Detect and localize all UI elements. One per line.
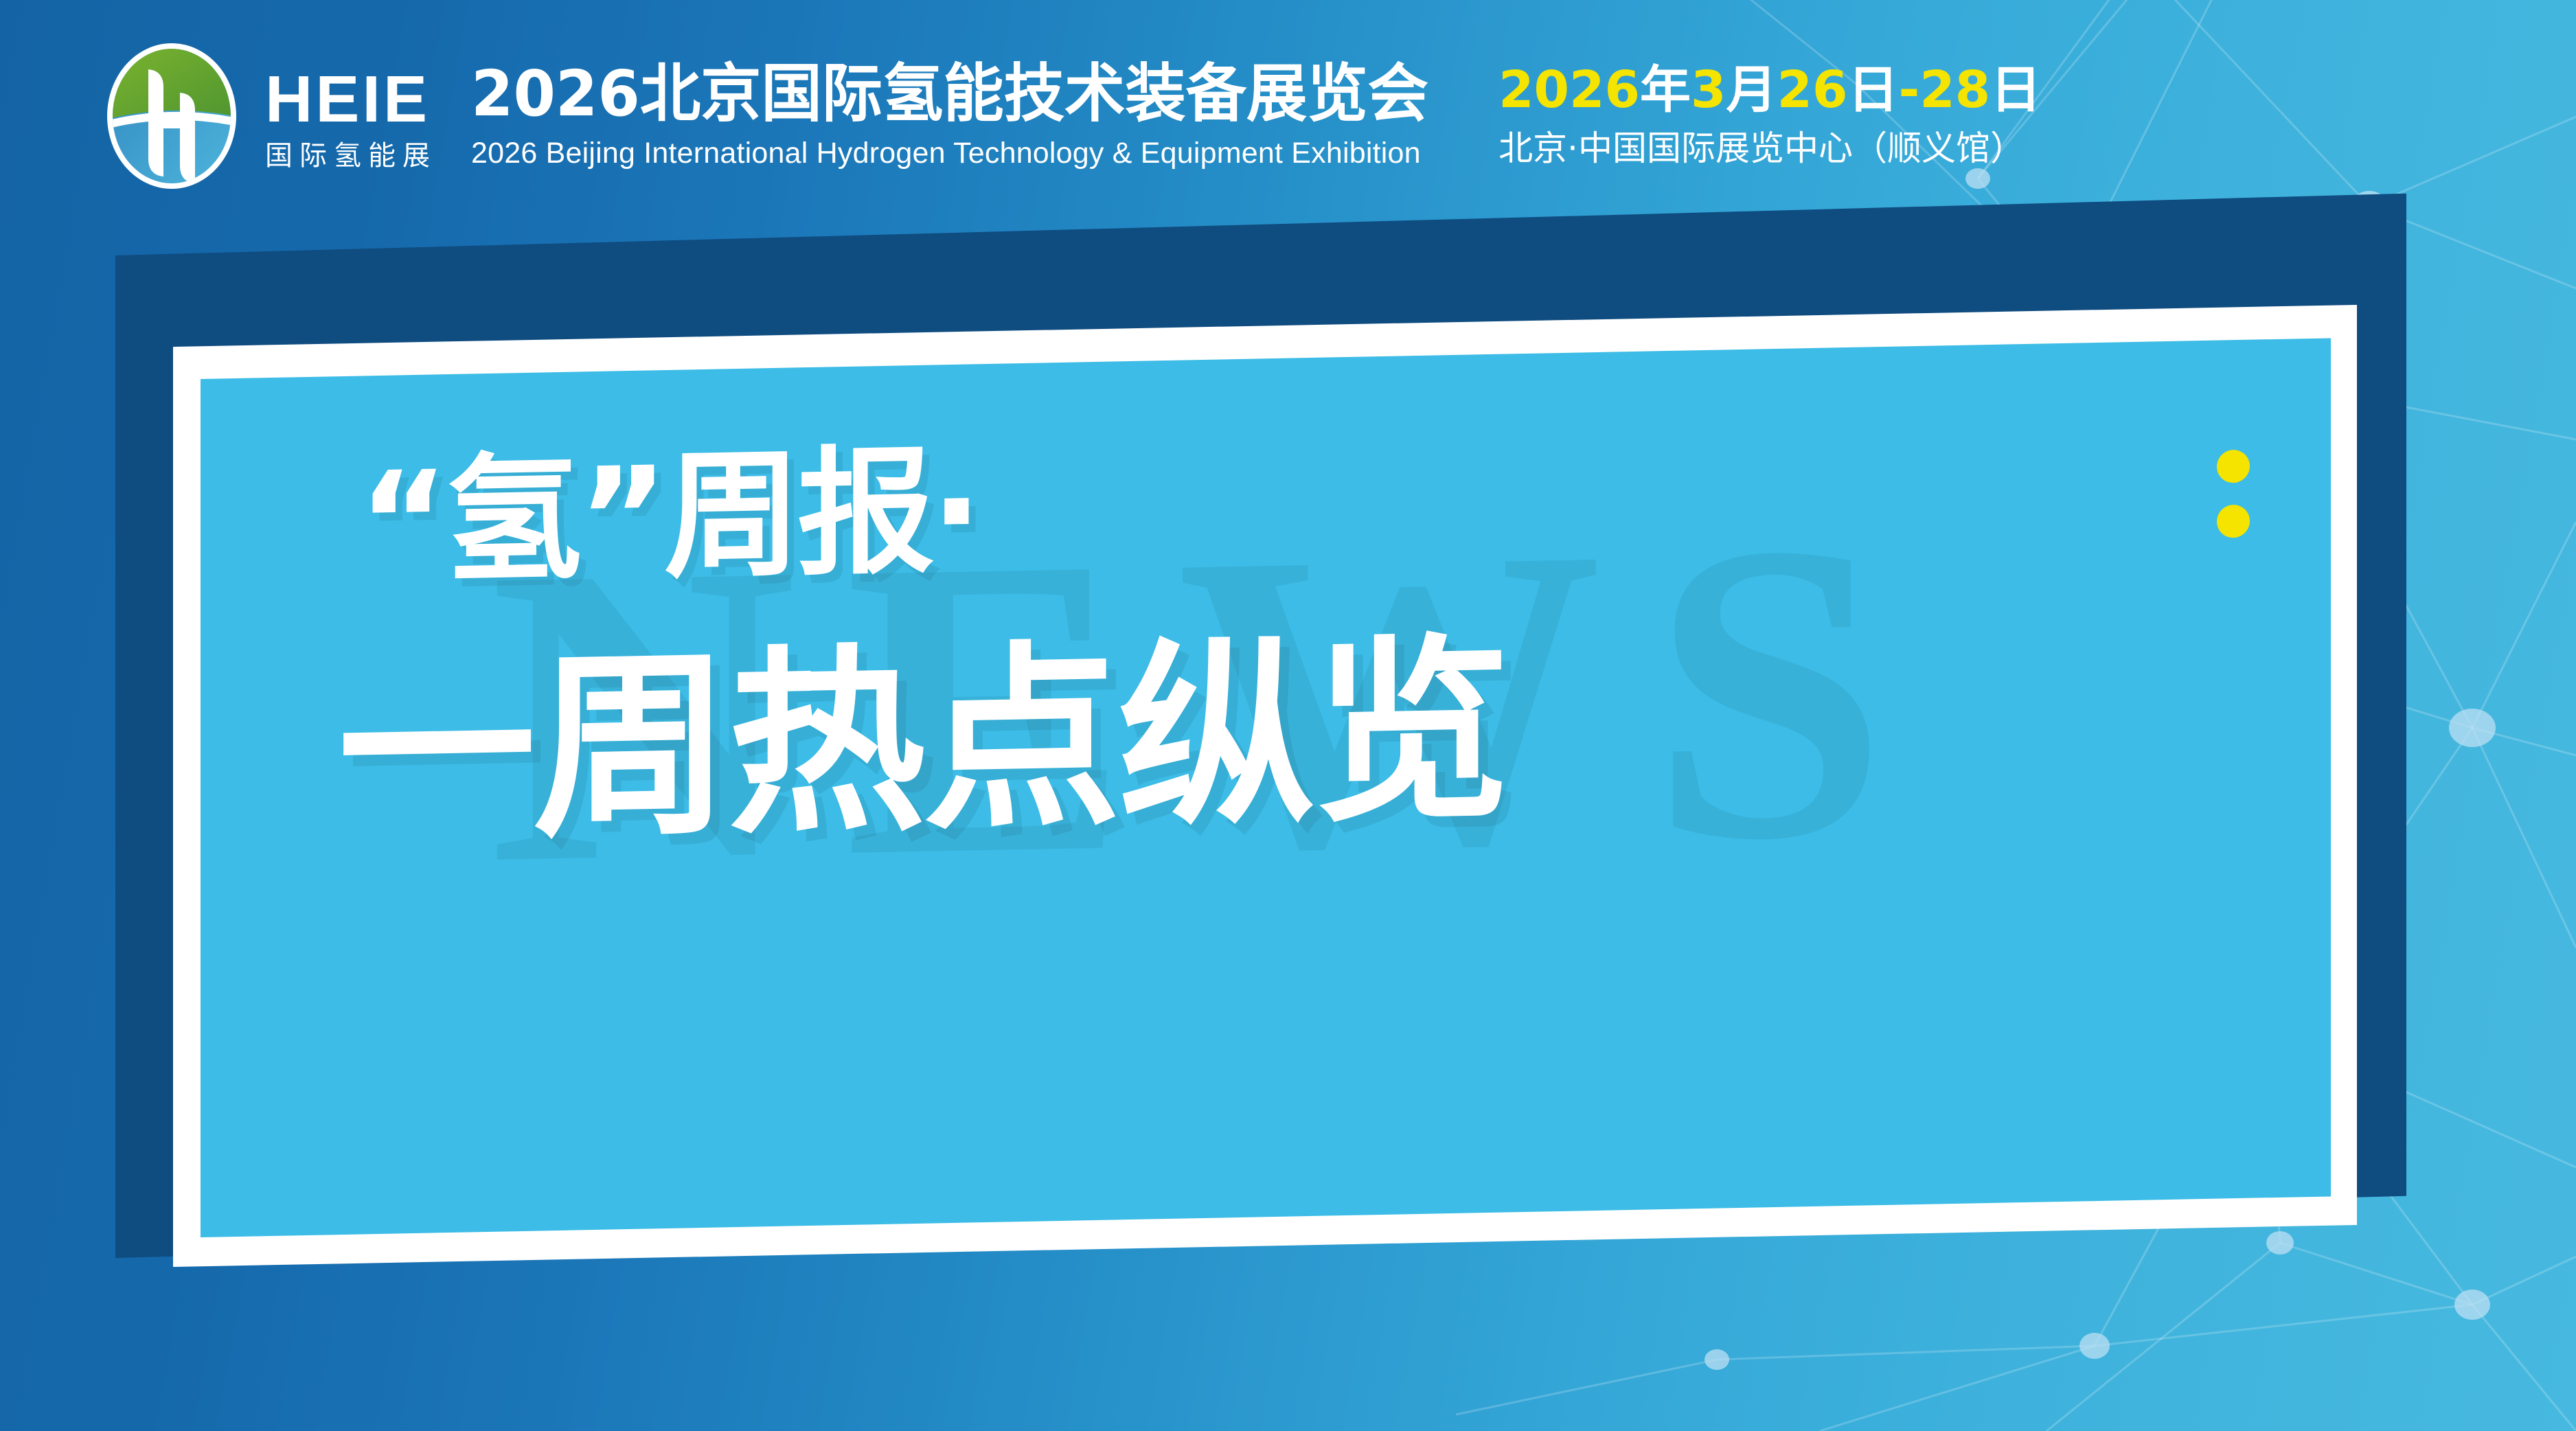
logo-subtitle-cn: 国际氢能展 <box>265 142 437 170</box>
date-year-suffix: 年 <box>1640 60 1691 119</box>
event-header: HEIE 国际氢能展 2026北京国际氢能技术装备展览会 2026 Beijin… <box>0 0 2576 227</box>
date-year: 2026 <box>1498 60 1640 119</box>
date-day-end: 28 <box>1919 60 1990 119</box>
poster-canvas: HEIE 国际氢能展 2026北京国际氢能技术装备展览会 2026 Beijin… <box>0 0 2576 1431</box>
date-month: 3 <box>1691 60 1726 119</box>
decor-dot-icon-2 <box>2217 505 2250 538</box>
decor-dot-icon-1 <box>2217 450 2250 483</box>
event-date: 2026年3月26日-28日 <box>1498 63 2041 117</box>
news-card-subtitle: “氢”周报· <box>358 443 979 592</box>
date-day-start: 26 <box>1777 60 1848 119</box>
event-title-block: 2026北京国际氢能技术装备展览会 2026 Beijing Internati… <box>471 60 1468 171</box>
news-card-headline: 一周热点纵览 <box>338 632 1508 852</box>
event-date-block: 2026年3月26日-28日 北京·中国国际展览中心（顺义馆） <box>1498 63 2041 169</box>
event-title-cn: 2026北京国际氢能技术装备展览会 <box>471 60 1428 128</box>
logo-wordmark: HEIE 国际氢能展 <box>265 67 437 170</box>
event-venue: 北京·中国国际展览中心（顺义馆） <box>1498 128 2041 169</box>
heie-logo-icon <box>103 43 240 189</box>
logo-wordmark-text: HEIE <box>265 67 437 133</box>
decor-dots <box>2217 450 2250 538</box>
date-day-start-suffix: 日 <box>1848 60 1899 119</box>
date-day-end-suffix: 日 <box>1990 60 2041 119</box>
date-month-suffix: 月 <box>1726 60 1777 119</box>
date-separator: - <box>1899 60 1920 119</box>
news-card: NEWS “氢”周报· 一周热点纵览 <box>201 338 2331 1237</box>
event-title-en: 2026 Beijing International Hydrogen Tech… <box>471 136 1468 172</box>
news-card-text: “氢”周报· 一周热点纵览 <box>201 338 2331 1237</box>
